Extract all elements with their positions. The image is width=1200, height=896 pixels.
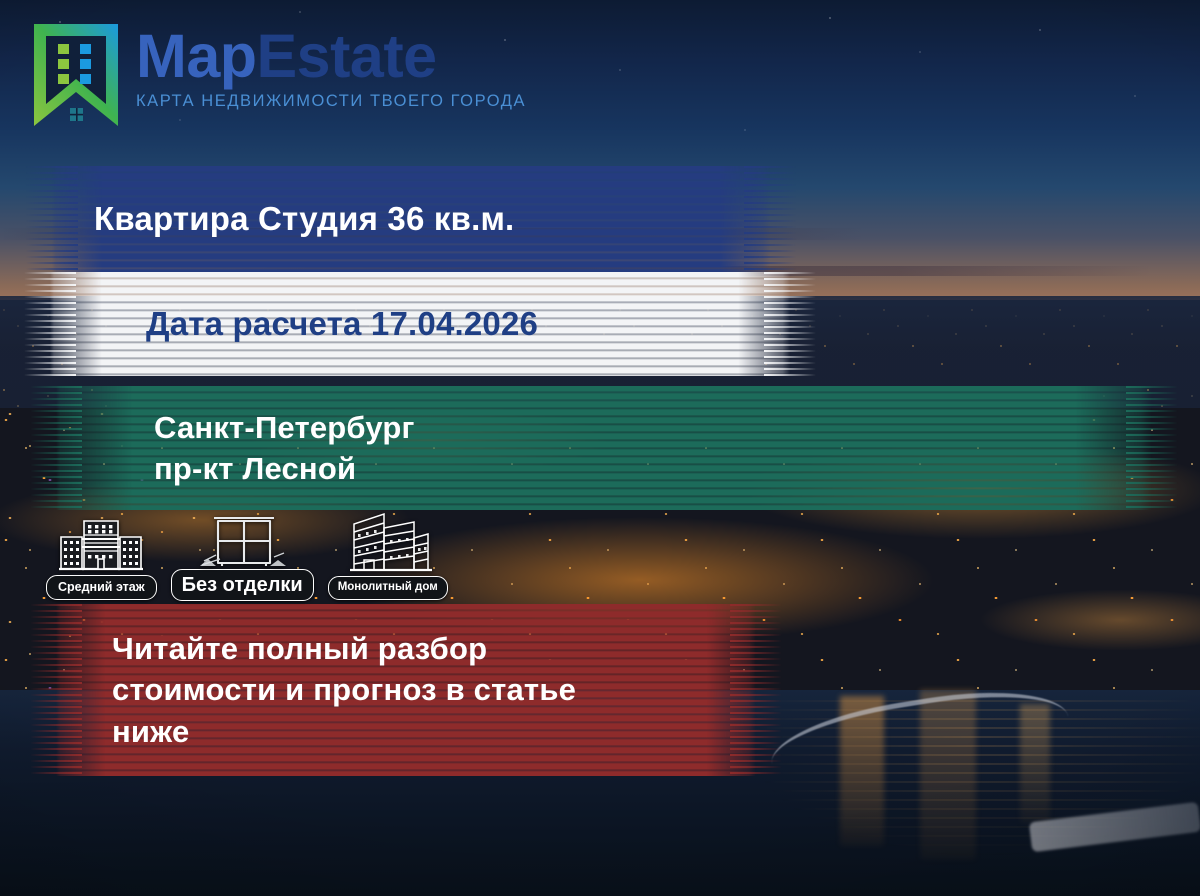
address-city: Санкт-Петербург — [154, 407, 1152, 448]
calculation-date-banner: Дата расчета 17.04.2026 — [50, 272, 790, 376]
brand-logo[interactable]: MapEstate КАРТА НЕДВИЖИМОСТИ ТВОЕГО ГОРО… — [30, 22, 526, 130]
address-banner: Санкт-Петербург пр-кт Лесной — [56, 386, 1152, 510]
brand-name: MapEstate — [136, 26, 526, 87]
property-title-text: Квартира Студия 36 кв.м. — [52, 200, 770, 238]
badge-label: Без отделки — [171, 569, 314, 601]
bare-window-frame-icon — [196, 509, 288, 567]
cta-line-2: стоимости и прогноз в статье — [112, 669, 756, 710]
property-title-banner: Квартира Студия 36 кв.м. — [52, 166, 770, 272]
map-estate-logo-icon — [30, 22, 122, 130]
call-to-action-banner: Читайте полный разбор стоимости и прогно… — [56, 604, 756, 776]
cta-line-3: ниже — [112, 711, 756, 752]
badge-label: Средний этаж — [46, 575, 157, 600]
brand-tagline: КАРТА НЕДВИЖИМОСТИ ТВОЕГО ГОРОДА — [136, 92, 526, 111]
calculation-date-text: Дата расчета 17.04.2026 — [50, 305, 790, 343]
apartment-buildings-icon — [58, 511, 144, 573]
badge-no-finishing[interactable]: Без отделки — [171, 509, 314, 601]
cta-line-1: Читайте полный разбор — [112, 628, 756, 669]
brand-name-part1: Map — [136, 22, 257, 90]
address-street: пр-кт Лесной — [154, 448, 1152, 489]
highrise-building-icon — [340, 508, 436, 574]
badge-label: Монолитный дом — [328, 576, 448, 600]
feature-badges: Средний этаж Без — [46, 508, 448, 600]
badge-monolithic-house[interactable]: Монолитный дом — [328, 508, 448, 600]
brand-name-part2: Estate — [257, 22, 437, 90]
promo-poster: MapEstate КАРТА НЕДВИЖИМОСТИ ТВОЕГО ГОРО… — [0, 0, 1200, 896]
badge-middle-floor[interactable]: Средний этаж — [46, 511, 157, 600]
